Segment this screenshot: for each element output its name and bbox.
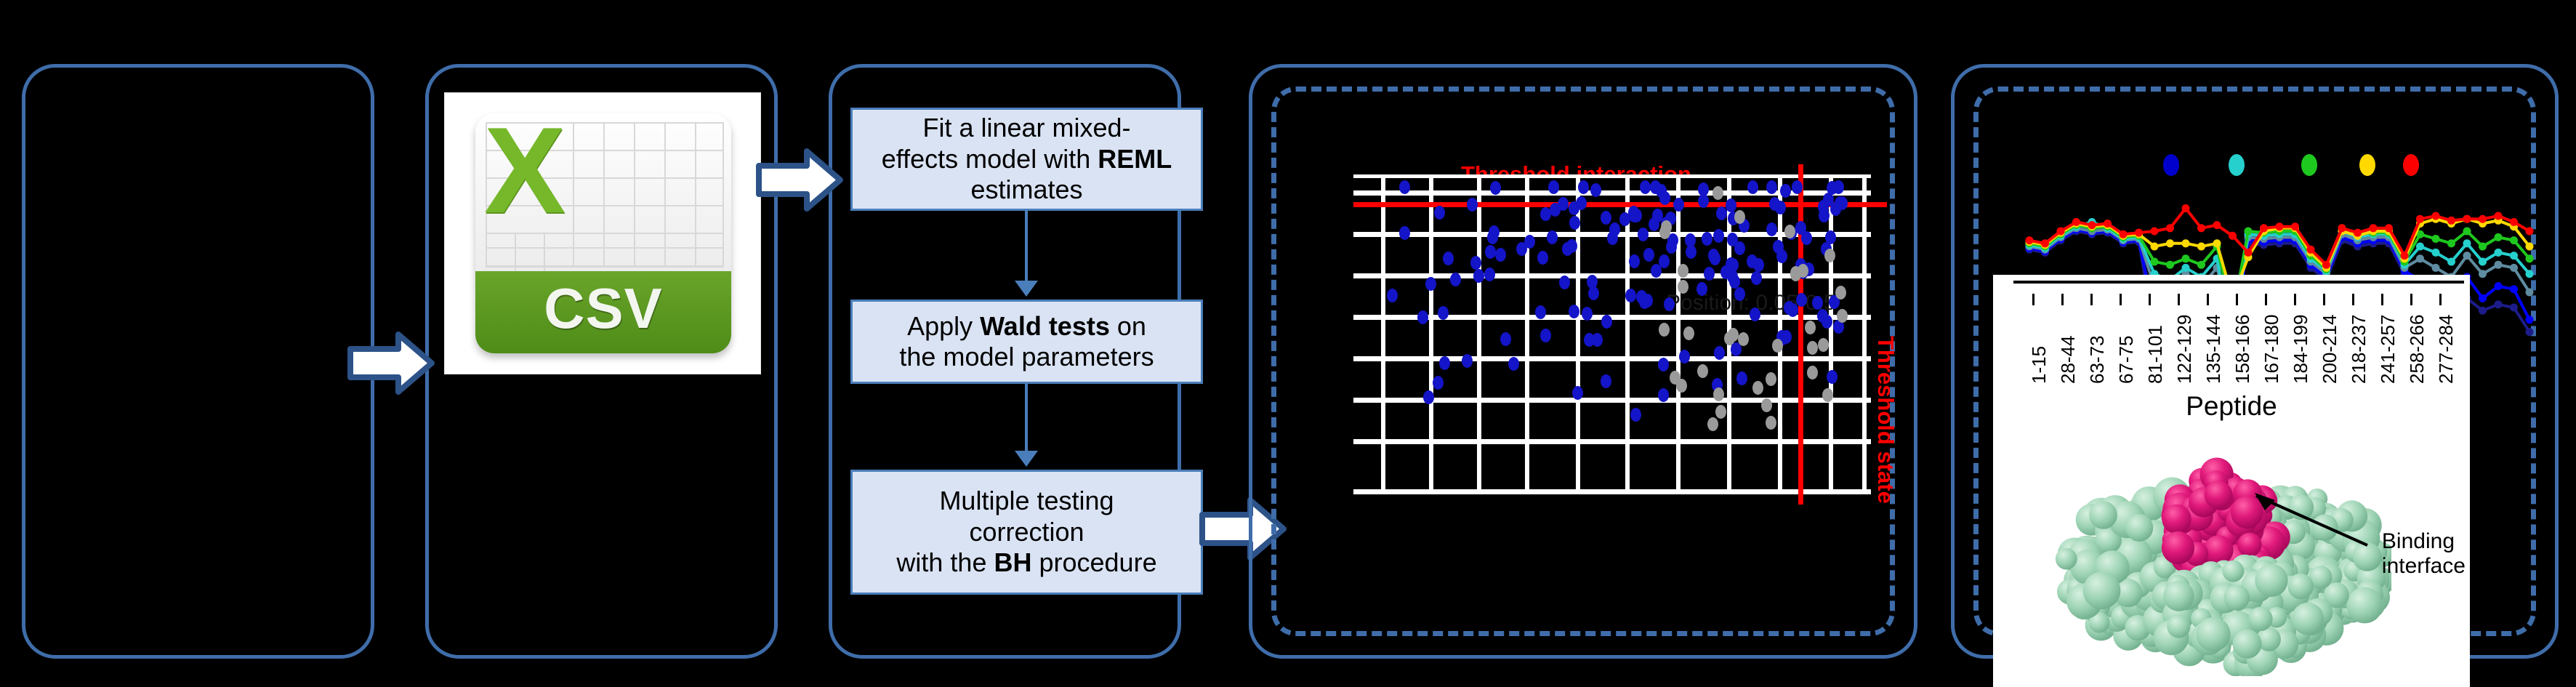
scatter-point [1661, 220, 1672, 234]
scatter-point [1524, 235, 1535, 249]
binding-interface-annotation: Binding interface [2382, 529, 2466, 578]
scatter-point [1625, 289, 1636, 302]
scatter-point [1697, 364, 1708, 378]
peptide-axis-and-structure-card: 1-1528-4463-7367-7581-101122-129135-1441… [1993, 275, 2470, 687]
scatter-point [1438, 306, 1449, 320]
scatter-point [1434, 206, 1445, 220]
scatter-point [1569, 305, 1579, 318]
scatter-point [1683, 326, 1694, 340]
scatter-point [1485, 245, 1496, 259]
legend-dot [2301, 154, 2317, 176]
x-tick-label: 122-129 [2173, 315, 2196, 384]
process-box-reml[interactable]: Fit a linear mixed- effects model with R… [850, 108, 1203, 211]
scatter-point [1601, 374, 1611, 388]
scatter-point [1462, 354, 1473, 368]
panel-data-input [22, 64, 374, 659]
scatter-point [1824, 249, 1835, 262]
scatter-point [1805, 321, 1816, 334]
scatter-point [1787, 303, 1798, 317]
scatter-point [1433, 376, 1444, 390]
reml-line1: Fit a linear mixed- [922, 113, 1130, 142]
connector-wald-to-bh [1025, 384, 1028, 451]
x-axis-title: Peptide [1993, 391, 2470, 422]
scatter-point [1547, 230, 1558, 244]
scatter-point [1649, 217, 1659, 231]
scatter-point [1766, 372, 1776, 386]
x-tick-mark [2120, 294, 2122, 305]
scatter-point [1728, 328, 1739, 342]
x-tick-mark [2439, 294, 2442, 305]
legend-dot [2359, 154, 2375, 176]
scatter-point [1702, 232, 1712, 246]
scatter-point [1638, 228, 1649, 241]
scatter-point [1678, 264, 1689, 278]
scatter-point [1537, 251, 1548, 265]
scatter-point [1658, 358, 1669, 371]
scatter-point [1643, 248, 1654, 262]
scatter-point [1425, 277, 1436, 291]
scatter-point [1569, 201, 1579, 215]
scatter-point [1487, 230, 1498, 244]
csv-extension-band: CSV [475, 271, 731, 353]
csv-file-icon: X CSV [445, 93, 760, 374]
threshold-interaction-line [1353, 202, 1887, 207]
scatter-point [1630, 408, 1641, 422]
scatter-point [1698, 194, 1709, 208]
legend-dot [2403, 154, 2419, 176]
x-tick-mark [2381, 294, 2383, 305]
scatter-point [1738, 332, 1749, 346]
x-tick-mark [2032, 294, 2034, 305]
scatter-point [1587, 275, 1598, 289]
scatter-point [1807, 366, 1818, 379]
arrow-csv-to-model [756, 145, 843, 214]
x-tick-mark [2236, 294, 2238, 305]
x-axis-tick-labels: 1-1528-4463-7367-7581-101122-129135-1441… [1993, 288, 2470, 387]
scatter-point [1769, 197, 1780, 211]
bh-bold: BH [994, 547, 1031, 577]
scatter-point [1500, 332, 1511, 346]
scatter-point [1766, 222, 1777, 236]
x-tick-mark [2178, 294, 2180, 305]
process-box-bh[interactable]: Multiple testing correction with the BH … [850, 470, 1203, 595]
wald-line2: the model parameters [899, 342, 1154, 371]
scatter-point [1750, 308, 1760, 321]
scatter-point [1484, 268, 1495, 281]
process-box-wald[interactable]: Apply Wald tests on the model parameters [850, 300, 1203, 384]
scatter-point [1781, 330, 1792, 344]
x-tick-label: 158-166 [2231, 315, 2254, 384]
protein-structure-image [2050, 429, 2391, 676]
x-tick-label: 135-144 [2202, 315, 2225, 384]
x-tick-mark [2410, 294, 2412, 305]
scatter-point [1578, 180, 1589, 194]
scatter-point [1658, 388, 1669, 402]
reml-line2: effects model with [882, 144, 1098, 174]
x-tick-label: 218-237 [2348, 315, 2370, 384]
x-tick-mark [2323, 294, 2325, 305]
scatter-point [1823, 193, 1834, 206]
scatter-point [1559, 276, 1570, 289]
scatter-point [1837, 309, 1848, 323]
wald-bold: Wald tests [980, 311, 1110, 341]
scatter-point [1650, 180, 1661, 194]
scatter-point [1713, 229, 1724, 243]
x-tick-label: 67-75 [2115, 336, 2138, 385]
scatter-point [1607, 231, 1618, 245]
scatter-point [1835, 286, 1846, 300]
scatter-point [1772, 339, 1783, 353]
scatter-point [1812, 296, 1823, 310]
binding-interface-pointer-arrow [2233, 486, 2371, 551]
bh-post: procedure [1031, 547, 1156, 577]
scatter-point [1450, 273, 1461, 286]
scatter-point [1592, 333, 1603, 347]
bh-pre: with the [896, 547, 994, 577]
legend-dot [2163, 154, 2179, 176]
scatter-point [1550, 203, 1561, 217]
x-tick-label: 241-257 [2377, 315, 2399, 384]
x-tick-label: 200-214 [2319, 315, 2341, 384]
x-tick-label: 63-73 [2086, 336, 2109, 385]
scatter-point [1761, 398, 1772, 412]
scatter-point [1715, 405, 1726, 419]
scatter-point [1629, 209, 1640, 222]
scatter-point [1773, 240, 1784, 254]
scatter-point [1467, 198, 1478, 212]
reml-line3: estimates [970, 174, 1082, 204]
connector-reml-to-wald [1025, 211, 1028, 281]
scatter-point [1664, 297, 1675, 311]
bh-line1: Multiple testing [939, 486, 1114, 515]
x-tick-mark [2061, 294, 2064, 305]
scatter-point [1678, 280, 1689, 294]
scatter-point [1387, 289, 1398, 302]
scatter-point [1535, 305, 1546, 319]
threshold-state-label: Threshold state [1872, 336, 1899, 504]
scatter-point [1807, 341, 1818, 355]
scatter-point [1443, 252, 1454, 265]
scatter-point [1751, 271, 1762, 285]
x-tick-mark [2265, 294, 2267, 305]
x-tick-label: 81-101 [2144, 325, 2167, 384]
csv-spreadsheet-area: X [475, 113, 731, 271]
scatter-plot: Position: 0.05-0.5 [1353, 174, 1871, 494]
threshold-state-line [1798, 164, 1803, 505]
scatter-point [1659, 323, 1670, 337]
wald-post: on [1110, 311, 1146, 341]
scatter-point [1796, 293, 1807, 307]
wald-pre: Apply [907, 311, 980, 341]
x-tick-label: 277-284 [2435, 315, 2458, 384]
scatter-point [1726, 198, 1736, 212]
binding-label-line2: interface [2382, 554, 2466, 578]
scatter-point [1540, 329, 1551, 342]
scatter-point [1417, 310, 1428, 324]
scatter-point [1508, 357, 1519, 371]
reml-bold: REML [1098, 144, 1172, 174]
scatter-point [1399, 226, 1410, 240]
scatter-point [1716, 206, 1727, 220]
scatter-point [1629, 254, 1640, 268]
x-tick-mark [2090, 294, 2093, 305]
scatter-point [1659, 254, 1670, 268]
x-axis-line [2013, 281, 2464, 284]
x-tick-label: 28-44 [2057, 336, 2080, 385]
scatter-point [1473, 269, 1484, 283]
scatter-point [1679, 350, 1690, 363]
x-tick-label: 1-15 [2028, 346, 2050, 384]
scatter-point [1673, 198, 1684, 212]
scatter-point [1825, 230, 1836, 244]
scatter-point [1572, 386, 1583, 400]
scatter-point [1712, 186, 1723, 200]
scatter-point [1827, 370, 1838, 384]
scatter-point [1766, 416, 1776, 430]
scatter-point [1792, 180, 1803, 194]
pipeline-diagram: X CSV Fit a linear mixed- effects model … [0, 0, 2576, 687]
scatter-point [1470, 256, 1481, 270]
scatter-point [1640, 180, 1651, 194]
scatter-point [1752, 381, 1763, 395]
legend-dot [2229, 154, 2245, 176]
connector-arrowhead-wald [1015, 281, 1038, 297]
scatter-point [1707, 417, 1718, 431]
x-tick-mark [2294, 294, 2296, 305]
scatter-point [1495, 248, 1506, 262]
scatter-point [1736, 371, 1747, 385]
arrow-input-to-csv [347, 329, 435, 398]
scatter-point [1734, 287, 1745, 301]
csv-icon-tile: X CSV [475, 113, 731, 353]
binding-label-line1: Binding [2382, 529, 2455, 553]
bh-line2: correction [969, 517, 1084, 547]
scatter-point [1601, 211, 1611, 225]
connector-arrowhead-bh [1015, 451, 1038, 467]
scatter-point [1566, 239, 1577, 253]
scatter-point [1727, 233, 1738, 246]
scatter-point [1753, 258, 1764, 272]
x-tick-label: 258-266 [2406, 315, 2428, 384]
x-tick-label: 184-199 [2290, 315, 2312, 384]
x-tick-mark [2149, 294, 2151, 305]
excel-x-glyph: X [484, 113, 565, 231]
scatter-point [1704, 267, 1715, 281]
scatter-point [1747, 180, 1758, 194]
csv-extension-label: CSV [475, 276, 731, 342]
scatter-point [1686, 245, 1696, 259]
scatter-point [1399, 180, 1410, 194]
scatter-point [1801, 231, 1812, 245]
scatter-point [1439, 356, 1450, 370]
x-tick-mark [2207, 294, 2209, 305]
scatter-point [1601, 315, 1612, 329]
x-tick-label: 167-180 [2261, 315, 2283, 384]
x-tick-mark [2352, 294, 2354, 305]
scatter-point [1818, 338, 1829, 352]
